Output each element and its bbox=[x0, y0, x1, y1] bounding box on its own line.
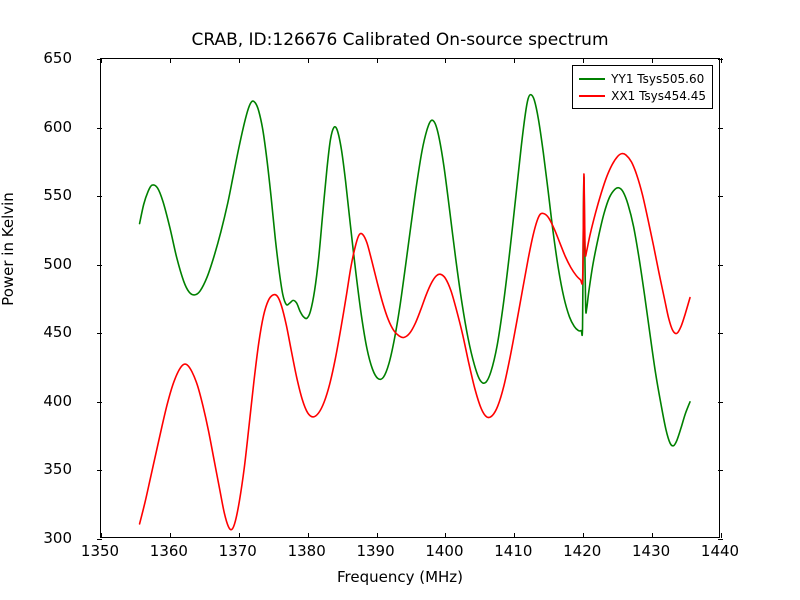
x-tick-mark-top bbox=[377, 58, 378, 63]
x-tick-mark-top bbox=[101, 58, 102, 63]
y-axis-label: Power in Kelvin bbox=[0, 9, 17, 489]
y-tick-mark-right bbox=[718, 470, 723, 471]
legend-item: XX1 Tsys454.45 bbox=[577, 87, 706, 104]
x-tick-mark bbox=[170, 533, 171, 538]
legend-label: YY1 Tsys505.60 bbox=[611, 72, 704, 86]
x-tick-mark bbox=[445, 533, 446, 538]
series-line bbox=[140, 95, 690, 446]
x-tick-mark-top bbox=[170, 58, 171, 63]
y-tick-mark bbox=[97, 128, 102, 129]
y-tick-label: 400 bbox=[0, 392, 72, 410]
y-tick-mark-right bbox=[718, 539, 723, 540]
series-line bbox=[140, 154, 690, 530]
x-tick-label: 1440 bbox=[680, 542, 760, 560]
x-tick-mark bbox=[652, 533, 653, 538]
y-tick-mark-right bbox=[718, 265, 723, 266]
y-tick-label: 350 bbox=[0, 460, 72, 478]
legend-color-swatch bbox=[579, 95, 605, 97]
y-tick-mark bbox=[97, 265, 102, 266]
x-tick-mark bbox=[514, 533, 515, 538]
y-tick-mark bbox=[97, 402, 102, 403]
chart-title: CRAB, ID:126676 Calibrated On-source spe… bbox=[0, 30, 800, 50]
y-tick-label: 500 bbox=[0, 255, 72, 273]
x-tick-mark bbox=[101, 533, 102, 538]
legend: YY1 Tsys505.60XX1 Tsys454.45 bbox=[572, 65, 713, 109]
x-tick-mark-top bbox=[308, 58, 309, 63]
x-tick-mark-top bbox=[652, 58, 653, 63]
x-tick-mark bbox=[308, 533, 309, 538]
y-tick-label: 450 bbox=[0, 323, 72, 341]
y-tick-mark-right bbox=[718, 128, 723, 129]
y-tick-label: 550 bbox=[0, 186, 72, 204]
x-tick-mark bbox=[377, 533, 378, 538]
y-tick-label: 650 bbox=[0, 49, 72, 67]
plot-area: YY1 Tsys505.60XX1 Tsys454.45 bbox=[100, 58, 720, 538]
y-tick-label: 600 bbox=[0, 118, 72, 136]
x-axis-label: Frequency (MHz) bbox=[0, 568, 800, 586]
legend-label: XX1 Tsys454.45 bbox=[611, 89, 706, 103]
y-tick-mark-right bbox=[718, 333, 723, 334]
figure-canvas: CRAB, ID:126676 Calibrated On-source spe… bbox=[0, 0, 800, 600]
x-tick-mark-top bbox=[239, 58, 240, 63]
y-tick-mark bbox=[97, 196, 102, 197]
legend-color-swatch bbox=[579, 78, 605, 80]
y-tick-mark bbox=[97, 333, 102, 334]
series-layer bbox=[101, 59, 721, 539]
x-tick-mark-top bbox=[514, 58, 515, 63]
y-tick-mark bbox=[97, 470, 102, 471]
x-tick-mark bbox=[583, 533, 584, 538]
y-tick-mark bbox=[97, 539, 102, 540]
x-tick-mark-top bbox=[721, 58, 722, 63]
x-tick-mark-top bbox=[583, 58, 584, 63]
x-tick-mark-top bbox=[445, 58, 446, 63]
legend-item: YY1 Tsys505.60 bbox=[577, 70, 706, 87]
x-tick-mark bbox=[721, 533, 722, 538]
y-tick-mark-right bbox=[718, 196, 723, 197]
x-tick-mark bbox=[239, 533, 240, 538]
y-tick-mark-right bbox=[718, 402, 723, 403]
